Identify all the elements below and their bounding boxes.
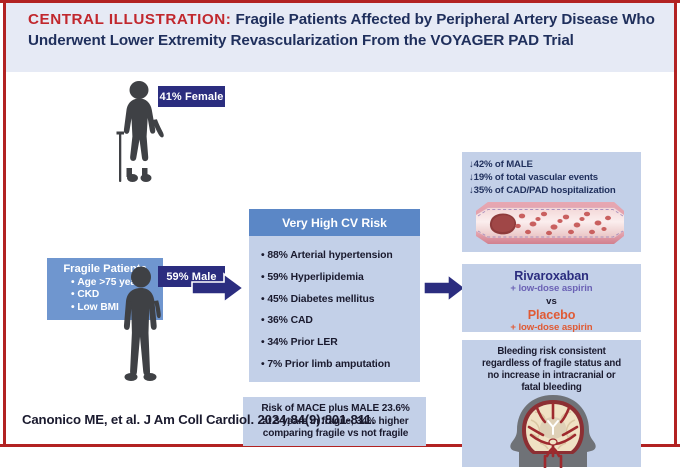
versus-label: vs xyxy=(462,295,641,308)
bleeding-risk-panel: Bleeding risk consistent regardless of f… xyxy=(462,340,641,467)
header-kicker: CENTRAL ILLUSTRATION: xyxy=(28,11,231,28)
bleeding-line: fatal bleeding xyxy=(468,382,635,394)
drug-a-name: Rivaroxaban xyxy=(462,269,641,283)
drug-b-name: Placebo xyxy=(462,308,641,322)
bleeding-line: Bleeding risk consistent xyxy=(468,346,635,358)
frame-rule-right xyxy=(674,0,677,447)
list-item: 7% Prior limb amputation xyxy=(261,354,420,376)
treatment-comparison-panel: Rivaroxaban + low-dose aspirin vs Placeb… xyxy=(462,264,641,332)
stat-row: ↓19% of total vascular events xyxy=(469,171,641,184)
list-item: 34% Prior LER xyxy=(261,332,420,354)
brain-head-icon xyxy=(507,394,599,468)
illustration-canvas: 41% Female Fragile Patients Age >75 year… xyxy=(6,72,674,402)
stat-label: 35% of CAD/PAD hospitalization xyxy=(474,185,616,196)
stat-label: 42% of MALE xyxy=(474,159,533,170)
stat-label: 19% of total vascular events xyxy=(474,172,598,183)
cv-risk-title: Very High CV Risk xyxy=(249,209,420,236)
female-percentage-tag: 41% Female xyxy=(158,86,225,107)
vascular-outcomes-panel: ↓42% of MALE ↓19% of total vascular even… xyxy=(462,152,641,252)
blood-vessel-icon xyxy=(474,198,626,248)
page-title: CENTRAL ILLUSTRATION: Fragile Patients A… xyxy=(28,10,660,51)
bleeding-line: no increase in intracranial or xyxy=(468,370,635,382)
mace-line: comparing fragile vs not fragile xyxy=(252,428,419,441)
arrow-right-icon-2 xyxy=(424,273,466,303)
stat-row: ↓35% of CAD/PAD hospitalization xyxy=(469,184,641,197)
citation-text: Canonico ME, et al. J Am Coll Cardiol. 2… xyxy=(22,412,375,427)
central-illustration-figure: CENTRAL ILLUSTRATION: Fragile Patients A… xyxy=(0,0,680,447)
drug-a-subtext: + low-dose aspirin xyxy=(462,283,641,295)
arrow-right-icon-1 xyxy=(191,272,245,304)
list-item: 88% Arterial hypertension xyxy=(261,245,420,267)
list-item: 45% Diabetes mellitus xyxy=(261,289,420,311)
stat-row: ↓42% of MALE xyxy=(469,158,641,171)
header-band: CENTRAL ILLUSTRATION: Fragile Patients A… xyxy=(6,3,674,72)
list-item: 36% CAD xyxy=(261,310,420,332)
drug-b-subtext: + low-dose aspirin xyxy=(462,322,641,334)
list-item: 59% Hyperlipidemia xyxy=(261,267,420,289)
cv-risk-card: Very High CV Risk 88% Arterial hypertens… xyxy=(249,209,420,382)
cv-risk-list: 88% Arterial hypertension 59% Hyperlipid… xyxy=(261,245,420,376)
female-tag-label: 41% Female xyxy=(160,91,224,103)
cv-risk-body: 88% Arterial hypertension 59% Hyperlipid… xyxy=(249,236,420,382)
bleeding-line: regardless of fragile status and xyxy=(468,358,635,370)
